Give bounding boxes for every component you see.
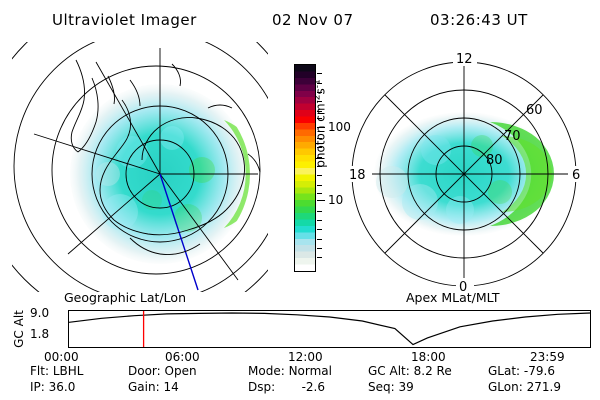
colorbar-minor-tick <box>317 248 322 249</box>
time-tick-2: 12:00 <box>288 350 323 364</box>
status-glon: GLon: 271.9 <box>488 380 561 394</box>
mlt-label-6: 6 <box>572 168 580 183</box>
mlat-label-80: 80 <box>486 153 503 168</box>
mlat-label-60: 60 <box>526 103 543 118</box>
colorbar-minor-tick <box>317 185 322 186</box>
instrument-title: Ultraviolet Imager <box>52 11 197 29</box>
time-tick-0: 00:00 <box>44 350 79 364</box>
status-glat: GLat: -79.6 <box>488 364 555 378</box>
orbit-altitude-curve <box>69 313 590 345</box>
status-gcalt: GC Alt: 8.2 Re <box>368 364 452 378</box>
header-bar: Ultraviolet Imager 02 Nov 07 03:26:43 UT <box>0 8 600 32</box>
colorbar-gradient <box>295 65 315 271</box>
apex-polar-plot[interactable]: 12 6 0 18 60 70 80 <box>340 42 596 292</box>
colorbar-minor-tick <box>317 73 322 74</box>
gcalt-tick-low: 1.8 <box>30 327 49 341</box>
time-tick-1: 06:00 <box>165 350 200 364</box>
colorbar-minor-tick <box>317 239 322 240</box>
mlat-label-70: 70 <box>504 129 521 144</box>
orbit-plot-frame[interactable] <box>68 310 591 348</box>
geographic-polar-plot[interactable] <box>12 42 268 292</box>
time-tick-4: 23:59 <box>530 350 565 364</box>
colorbar-minor-tick <box>317 101 322 102</box>
colorbar-minor-tick <box>317 157 322 158</box>
status-dsp: Dsp: -2.6 <box>248 380 325 394</box>
colorbar-minor-tick <box>317 111 322 112</box>
status-seq: Seq: 39 <box>368 380 414 394</box>
colorbar-minor-tick <box>317 147 322 148</box>
colorbar-minor-tick <box>317 138 322 139</box>
colorbar-minor-tick <box>317 220 322 221</box>
colorbar-minor-tick <box>317 193 322 194</box>
colorbar-minor-tick <box>317 83 322 84</box>
status-gain: Gain: 14 <box>128 380 179 394</box>
colorbar-minor-tick <box>317 118 322 119</box>
colorbar-minor-tick <box>317 229 322 230</box>
colorbar-gradient-box <box>294 64 316 272</box>
gcalt-axis-label: GC Alt <box>12 301 26 357</box>
colorbar: photon cm-2s-1 10010 <box>276 58 342 288</box>
status-footer: Flt: LBHL IP: 36.0 Door: Open Gain: 14 M… <box>0 364 600 398</box>
colorbar-major-tick <box>317 200 325 201</box>
status-flt: Flt: LBHL <box>30 364 83 378</box>
time-tick-3: 18:00 <box>411 350 446 364</box>
colorbar-minor-tick <box>317 175 322 176</box>
status-door: Door: Open <box>128 364 197 378</box>
colorbar-major-tick <box>317 127 325 128</box>
observation-date: 02 Nov 07 <box>272 11 354 29</box>
status-ip: IP: 36.0 <box>30 380 75 394</box>
orbit-altitude-strip[interactable]: GC Alt 9.0 1.8 00:00 06:00 12:00 18:00 2… <box>0 300 600 358</box>
orbit-track-svg <box>69 311 590 347</box>
colorbar-minor-tick <box>317 257 322 258</box>
colorbar-minor-tick <box>317 166 322 167</box>
colorbar-minor-tick <box>317 211 322 212</box>
mlt-label-18: 18 <box>349 168 366 183</box>
mlt-label-12: 12 <box>456 52 473 67</box>
gcalt-tick-high: 9.0 <box>30 306 49 320</box>
uvi-display: Ultraviolet Imager 02 Nov 07 03:26:43 UT <box>0 0 600 400</box>
observation-time: 03:26:43 UT <box>430 11 528 29</box>
colorbar-minor-tick <box>317 92 322 93</box>
status-mode: Mode: Normal <box>248 364 332 378</box>
apex-mlt-spokes <box>352 62 576 286</box>
